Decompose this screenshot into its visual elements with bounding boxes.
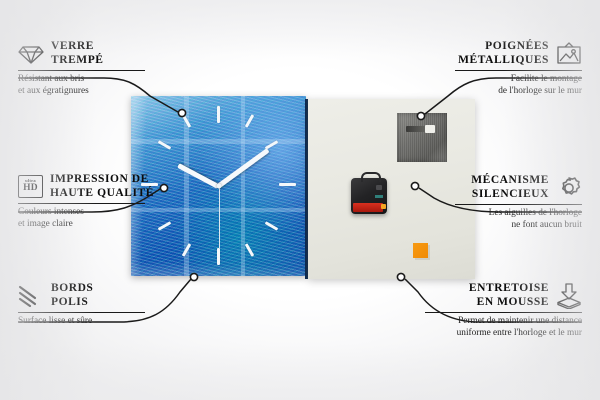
callout-subtitle: Surface lisse et sûre: [18, 316, 158, 328]
clock-center-cap: [216, 184, 221, 189]
clock-tick: [217, 106, 220, 123]
foam-spacer-icon: [556, 283, 582, 309]
callout-verre-trempe: VERRE TREMPÉ Résistant aux bris et aux é…: [18, 40, 158, 98]
callout-title: POIGNÉES MÉTALLIQUES: [458, 40, 549, 67]
product-image: [131, 96, 475, 282]
callout-title: IMPRESSION DE HAUTE QUALITÉ: [50, 173, 154, 200]
callout-rule: [425, 312, 582, 313]
callout-subtitle: Couleurs intenses et image claire: [18, 207, 168, 230]
clock-tick: [217, 248, 220, 265]
wall-hanger-frame-icon: [556, 42, 582, 65]
clock-hour-hand: [177, 163, 219, 189]
callout-impression-hd: ultra HD IMPRESSION DE HAUTE QUALITÉ Cou…: [18, 173, 168, 231]
callout-rule: [455, 70, 582, 71]
callout-title: BORDS POLIS: [51, 282, 93, 309]
callout-rule: [455, 204, 582, 205]
clock-tick: [182, 114, 192, 128]
clock-tick: [245, 114, 255, 128]
callout-title: ENTRETOISE EN MOUSSE: [469, 282, 549, 309]
clock-second-hand: [219, 186, 221, 248]
clock-tick: [265, 221, 279, 231]
polished-edges-icon: [18, 284, 44, 307]
callout-subtitle: Les aiguilles de l'horloge ne font aucun…: [442, 208, 582, 231]
callout-title: MÉCANISME SILENCIEUX: [471, 174, 549, 201]
battery: [353, 203, 383, 212]
callout-subtitle: Permet de maintenir une distance uniform…: [412, 316, 582, 339]
clock-minute-hand: [217, 148, 270, 188]
mechanism-loop: [361, 172, 380, 182]
callout-rule: [18, 203, 145, 204]
hd-label: HD: [23, 184, 38, 194]
callout-subtitle: Résistant aux bris et aux égratignures: [18, 74, 158, 97]
pattern-line: [241, 96, 245, 276]
foam-spacer: [413, 243, 428, 258]
mechanism-knob: [376, 185, 382, 190]
callout-mecanisme-silencieux: MÉCANISME SILENCIEUX Les aiguilles de l'…: [442, 174, 582, 232]
clock-tick: [158, 140, 172, 150]
pattern-line: [131, 139, 306, 144]
callout-subtitle: Facilite le montage de l'horloge sur le …: [442, 74, 582, 97]
callout-entretoise-mousse: ENTRETOISE EN MOUSSE Permet de maintenir…: [412, 282, 582, 340]
diamond-icon: [18, 43, 44, 65]
hanger-slot-highlight: [425, 125, 435, 133]
pattern-line: [184, 96, 189, 276]
gear-icon: [556, 176, 582, 200]
callout-poignees-metalliques: POIGNÉES MÉTALLIQUES Facilite le montage…: [442, 40, 582, 98]
callout-rule: [18, 70, 145, 71]
clock-tick: [279, 183, 296, 186]
clock-tick: [245, 243, 255, 257]
ultra-hd-badge-icon: ultra HD: [18, 175, 43, 198]
clock-mechanism: [351, 178, 387, 214]
callout-bords-polis: BORDS POLIS Surface lisse et sûre: [18, 282, 158, 328]
clock-tick: [265, 140, 279, 150]
mechanism-marking: [375, 195, 383, 198]
metal-hanger-plate: [397, 113, 447, 162]
clock-tick: [182, 243, 192, 257]
infographic-canvas: VERRE TREMPÉ Résistant aux bris et aux é…: [0, 0, 600, 400]
callout-rule: [18, 312, 145, 313]
callout-title: VERRE TREMPÉ: [51, 40, 104, 67]
